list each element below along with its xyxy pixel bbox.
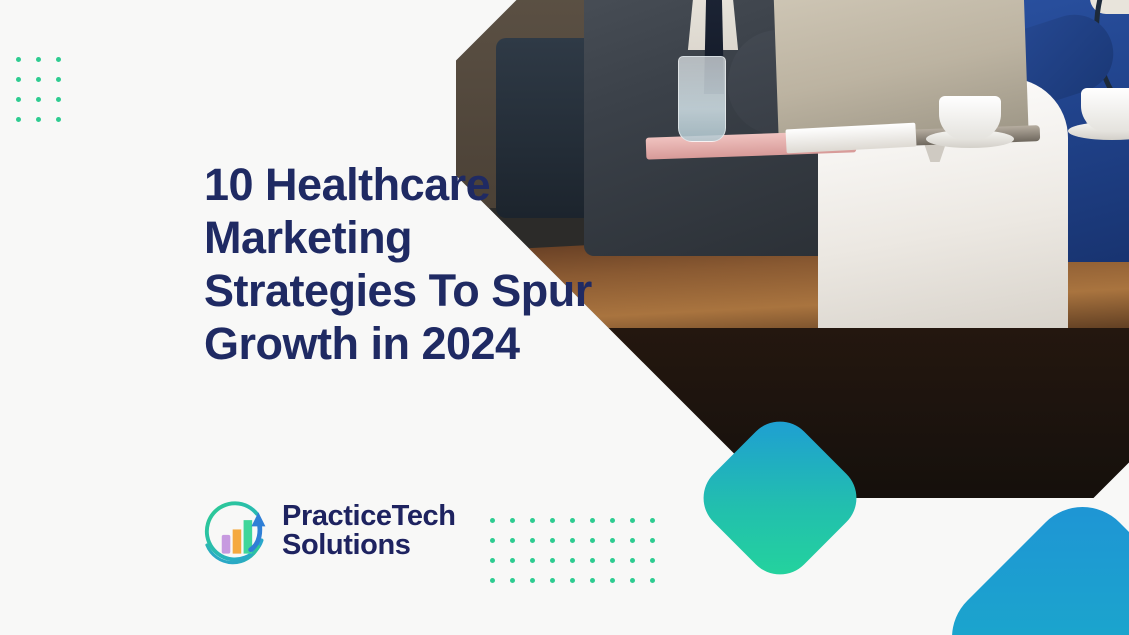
decorative-dot <box>36 57 41 62</box>
decorative-dot <box>590 558 595 563</box>
decorative-dot <box>16 117 21 122</box>
decorative-dot <box>16 77 21 82</box>
decorative-dot <box>550 518 555 523</box>
decorative-dot <box>590 538 595 543</box>
decorative-dot <box>490 558 495 563</box>
decorative-dot <box>56 97 61 102</box>
decorative-dot <box>630 578 635 583</box>
decorative-dot <box>590 578 595 583</box>
decorative-dot <box>650 578 655 583</box>
decorative-dot <box>490 518 495 523</box>
decorative-dot <box>550 558 555 563</box>
coffee-cup <box>939 96 1001 140</box>
page-title: 10 Healthcare Marketing Strategies To Sp… <box>204 158 594 370</box>
decorative-dot <box>650 538 655 543</box>
decorative-dot <box>56 117 61 122</box>
brand-logo[interactable]: PracticeTech Solutions <box>196 492 456 570</box>
decorative-dot <box>510 538 515 543</box>
logo-line-2: Solutions <box>282 531 456 560</box>
decorative-dot <box>36 77 41 82</box>
decorative-dot <box>510 558 515 563</box>
decorative-dot <box>630 518 635 523</box>
dot-grid-bottom <box>490 518 670 598</box>
decorative-dot <box>16 57 21 62</box>
decorative-dot <box>630 538 635 543</box>
decorative-dot <box>510 518 515 523</box>
decorative-dot <box>550 578 555 583</box>
decorative-dot <box>56 77 61 82</box>
logo-line-1: PracticeTech <box>282 500 456 532</box>
decorative-dot <box>510 578 515 583</box>
decorative-dot <box>630 558 635 563</box>
decorative-dot <box>610 558 615 563</box>
water-glass <box>678 56 726 142</box>
decorative-dot <box>610 578 615 583</box>
decorative-dot <box>530 578 535 583</box>
blog-hero-banner: 10 4 56% 67 124 3.1 72 6 47% 78 14 <box>0 0 1129 635</box>
decorative-dot <box>550 538 555 543</box>
decorative-dot <box>570 578 575 583</box>
decorative-dot <box>650 558 655 563</box>
decorative-dot <box>530 558 535 563</box>
decorative-dot <box>530 518 535 523</box>
decorative-dot <box>570 558 575 563</box>
decorative-dot <box>590 518 595 523</box>
decorative-dot <box>36 97 41 102</box>
decorative-dot <box>530 538 535 543</box>
decorative-dot <box>56 57 61 62</box>
decorative-dot <box>610 518 615 523</box>
decorative-dot <box>570 538 575 543</box>
decorative-dot <box>570 518 575 523</box>
decorative-dot <box>650 518 655 523</box>
decorative-dot <box>610 538 615 543</box>
logo-wordmark: PracticeTech Solutions <box>282 502 456 560</box>
decorative-dot <box>490 578 495 583</box>
decorative-dot <box>36 117 41 122</box>
practicetech-logo-icon <box>196 492 274 570</box>
decorative-dot <box>16 97 21 102</box>
decorative-dot <box>490 538 495 543</box>
dot-grid-top-left <box>16 57 76 137</box>
